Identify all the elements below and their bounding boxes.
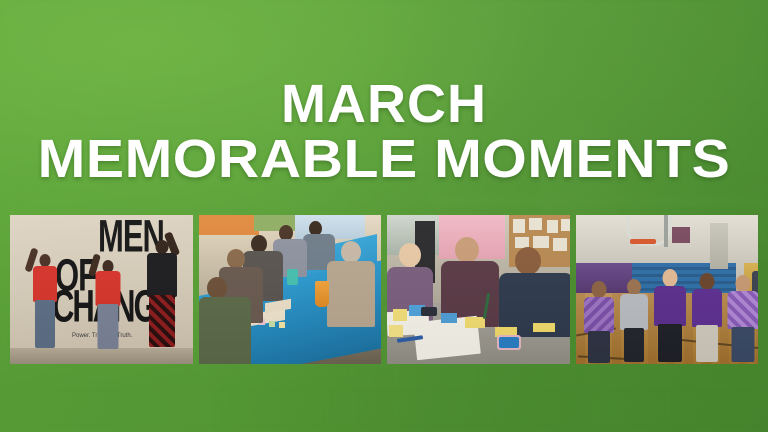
sticky-note bbox=[441, 313, 457, 323]
person-figure bbox=[726, 275, 759, 363]
hoop-pole bbox=[664, 215, 668, 247]
craft-piece bbox=[279, 322, 285, 328]
person-figure bbox=[690, 273, 724, 363]
person-figure bbox=[142, 230, 182, 350]
person-figure bbox=[28, 238, 62, 350]
title-line-1: MARCH bbox=[0, 78, 768, 133]
photo-craft-table bbox=[199, 215, 382, 364]
person-figure bbox=[582, 281, 616, 363]
page-title: MARCH MEMORABLE MOMENTS bbox=[0, 78, 768, 187]
gallery-floor bbox=[10, 348, 193, 364]
sticky-note bbox=[389, 325, 403, 337]
person-figure bbox=[618, 279, 650, 363]
title-line-2: MEMORABLE MOMENTS bbox=[0, 133, 768, 186]
photo-classroom-session bbox=[387, 215, 570, 364]
craft-piece bbox=[269, 321, 275, 327]
photo-men-of-change: MEN OF CHANGE Power. Triumph. Truth. bbox=[10, 215, 193, 364]
person-figure bbox=[499, 237, 570, 335]
person-figure bbox=[327, 241, 375, 351]
basketball-rim bbox=[630, 239, 656, 244]
cup bbox=[287, 269, 298, 285]
photo-strip: MEN OF CHANGE Power. Triumph. Truth. bbox=[10, 215, 758, 364]
slide-canvas: MARCH MEMORABLE MOMENTS MEN OF CHANGE Po… bbox=[0, 0, 768, 432]
wall-banner bbox=[672, 227, 690, 243]
person-figure bbox=[437, 233, 499, 325]
cup bbox=[315, 281, 329, 307]
person-figure bbox=[199, 277, 251, 364]
phone bbox=[497, 335, 521, 350]
sticky-note bbox=[393, 309, 407, 321]
phone bbox=[421, 307, 437, 316]
sticky-note bbox=[533, 323, 555, 332]
person-figure bbox=[652, 269, 688, 363]
wall-panel bbox=[199, 215, 259, 235]
gym-column bbox=[710, 223, 728, 269]
photo-gymnasium-group bbox=[576, 215, 759, 364]
sticky-note bbox=[465, 317, 485, 328]
person-figure bbox=[90, 240, 126, 350]
